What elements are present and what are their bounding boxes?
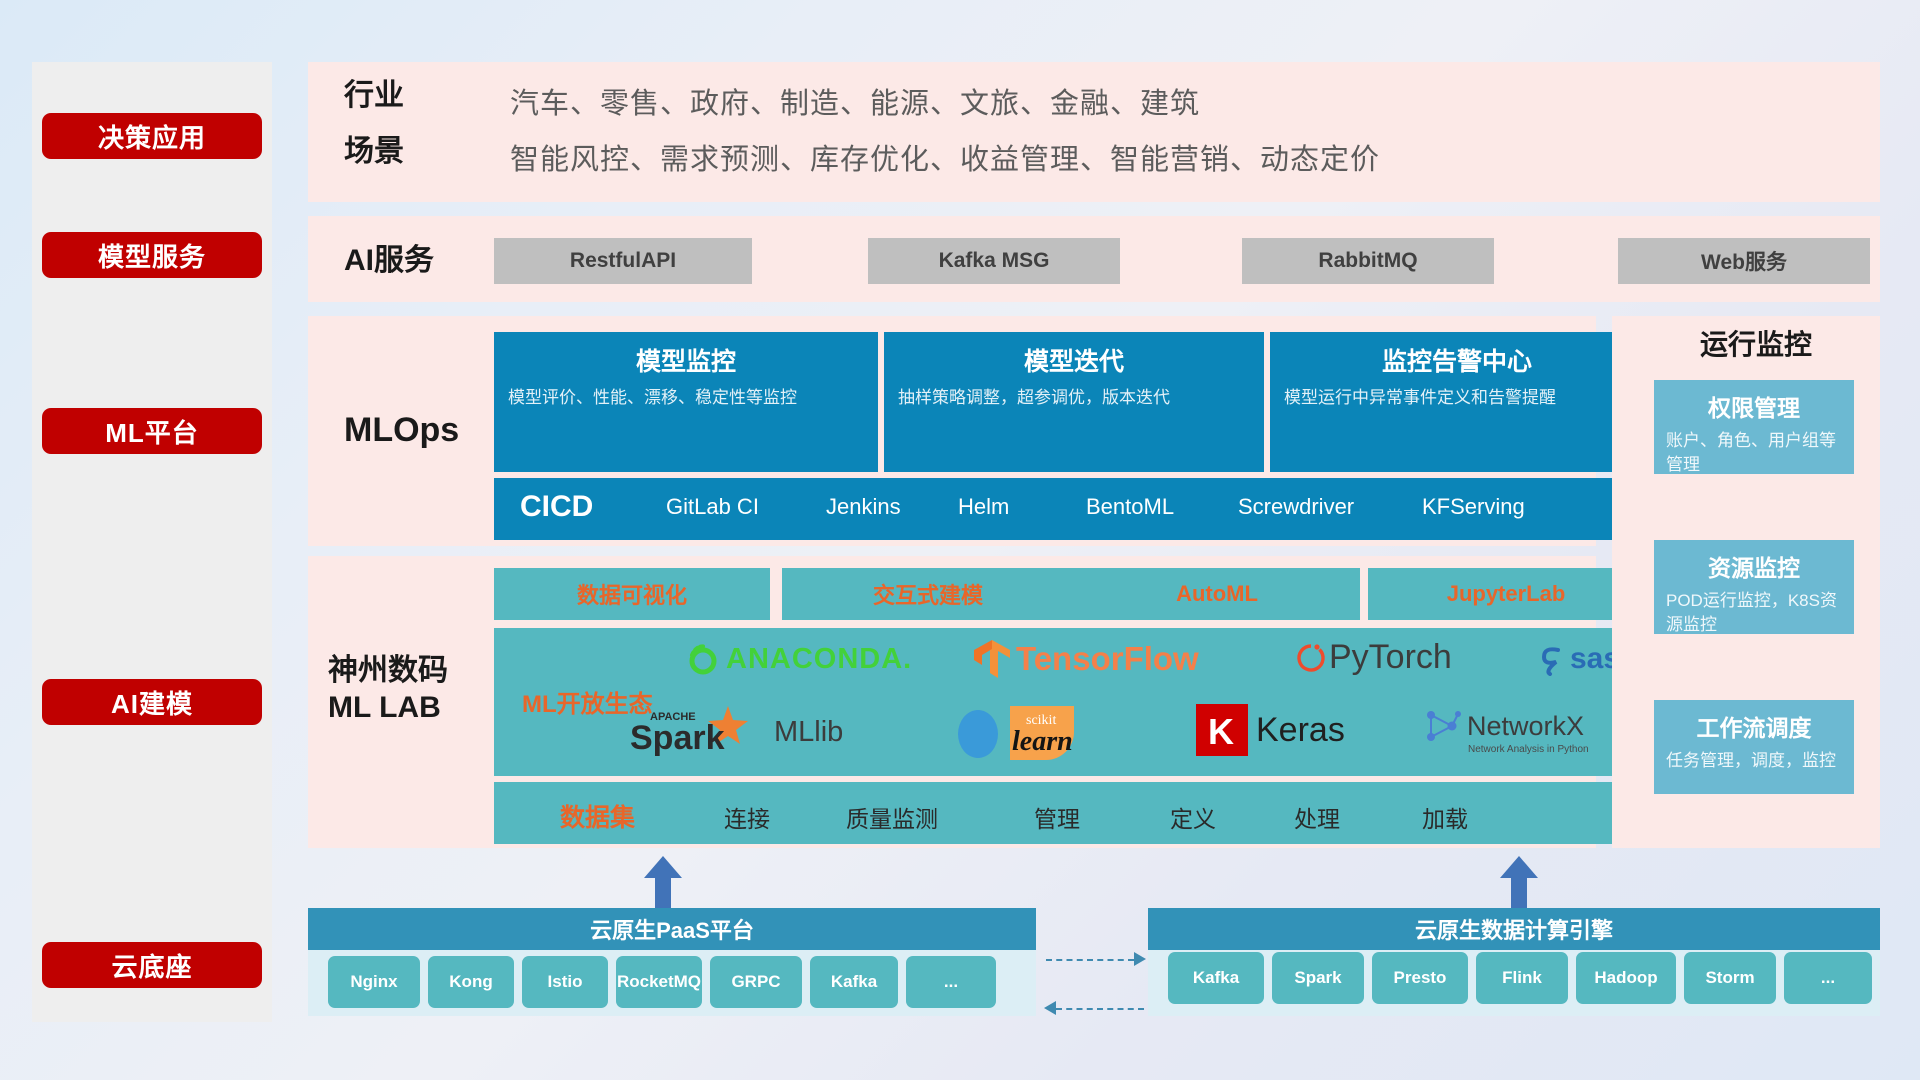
cloud-chip-grpc[interactable]: GRPC: [710, 956, 802, 1008]
industry-list: 汽车、零售、政府、制造、能源、文旅、金融、建筑: [510, 80, 1200, 122]
cicd-label: CICD: [520, 490, 593, 524]
cloud-group-engine-title: 云原生数据计算引擎: [1148, 908, 1880, 950]
networkx-icon: [1422, 706, 1464, 746]
dataset-item-load[interactable]: 加载: [1422, 800, 1468, 834]
cloud-chip-flink[interactable]: Flink: [1476, 952, 1568, 1004]
scikit-learn-icon: scikit learn: [950, 700, 1100, 762]
scenario-list: 智能风控、需求预测、库存优化、收益管理、智能营销、动态定价: [510, 136, 1380, 178]
dataset-item-define[interactable]: 定义: [1170, 800, 1216, 834]
networkx-tagline: Network Analysis in Python: [1468, 744, 1589, 755]
tool-label: 数据可视化: [577, 578, 687, 610]
cicd-bar: CICD GitLab CI Jenkins Helm BentoML Scre…: [494, 478, 1644, 540]
mlops-card-model-iteration[interactable]: 模型迭代 抽样策略调整，超参调优，版本迭代: [884, 332, 1264, 472]
cloud-chip-hadoop[interactable]: Hadoop: [1576, 952, 1676, 1004]
ml-lab-label-line2: ML LAB: [328, 691, 441, 724]
mlops-card-title: 模型迭代: [884, 342, 1264, 378]
left-rail: [32, 62, 272, 1022]
mlops-card-desc: 模型运行中异常事件定义和告警提醒: [1270, 386, 1644, 411]
tensorflow-wordmark: TensorFlow: [1016, 640, 1199, 678]
cloud-chip-nginx[interactable]: Nginx: [328, 956, 420, 1008]
mlops-card-title: 模型监控: [494, 342, 878, 378]
monitor-card-desc: POD运行监控，K8S资源监控: [1654, 589, 1854, 647]
dash-arrow-right: [1046, 959, 1134, 961]
dataset-bar: 数据集 连接 质量监测 管理 定义 处理 加载: [494, 782, 1644, 844]
architecture-diagram: 决策应用 模型服务 ML平台 AI建模 云底座 行业 汽车、零售、政府、制造、能…: [0, 0, 1920, 1080]
mlops-card-title: 监控告警中心: [1270, 342, 1644, 378]
cicd-item-kfserving[interactable]: KFServing: [1422, 494, 1552, 519]
tool-automl[interactable]: AutoML: [1074, 568, 1360, 620]
mlops-card-desc: 抽样策略调整，超参调优，版本迭代: [884, 386, 1264, 411]
dataset-item-quality[interactable]: 质量监测: [846, 800, 938, 834]
ml-lab-label: 神州数码 ML LAB: [328, 653, 448, 726]
ai-service-item-web-service[interactable]: Web服务: [1618, 238, 1870, 284]
dataset-item-manage[interactable]: 管理: [1034, 800, 1080, 834]
ai-service-item-label: RabbitMQ: [1318, 249, 1417, 273]
ai-service-item-label: Web服务: [1701, 246, 1787, 276]
svg-text:Spark: Spark: [630, 719, 725, 757]
anaconda-icon: [686, 642, 720, 676]
monitor-card-permission[interactable]: 权限管理 账户、角色、用户组等管理: [1654, 380, 1854, 474]
pytorch-icon: [1296, 640, 1326, 676]
cloud-chip-kafka2[interactable]: Kafka: [1168, 952, 1264, 1004]
tensorflow-icon: [972, 638, 1012, 680]
arrow-up-paas-head: [644, 856, 682, 878]
arrow-up-engine-head: [1500, 856, 1538, 878]
mlops-card-desc: 模型评价、性能、漂移、稳定性等监控: [494, 386, 878, 411]
spark-icon: APACHE Spark: [620, 704, 788, 760]
rail-label: 决策应用: [98, 118, 206, 155]
ai-service-item-label: RestfulAPI: [570, 249, 676, 273]
monitor-card-title: 工作流调度: [1654, 709, 1854, 743]
svg-text:K: K: [1208, 711, 1234, 752]
arrow-up-engine-stem: [1511, 878, 1527, 908]
keras-logo: K Keras: [1196, 704, 1345, 756]
ai-service-item-restfulapi[interactable]: RestfulAPI: [494, 238, 752, 284]
dash-arrow-right-head: [1134, 952, 1146, 966]
rail-item-decision-app[interactable]: 决策应用: [42, 113, 262, 159]
monitor-card-title: 权限管理: [1654, 389, 1854, 423]
tool-label: JupyterLab: [1447, 581, 1566, 607]
monitor-card-desc: 账户、角色、用户组等管理: [1654, 429, 1854, 487]
rail-item-ai-modeling[interactable]: AI建模: [42, 679, 262, 725]
runtime-monitor-title: 运行监控: [1700, 328, 1812, 362]
monitor-card-title: 资源监控: [1654, 549, 1854, 583]
cloud-chip-more2[interactable]: ...: [1784, 952, 1872, 1004]
cloud-chip-more[interactable]: ...: [906, 956, 996, 1008]
rail-label: 云底座: [111, 947, 192, 984]
industry-label: 行业: [344, 78, 404, 115]
pytorch-wordmark: PyTorch: [1329, 638, 1452, 677]
dataset-item-connect[interactable]: 连接: [724, 800, 770, 834]
spark-mllib-logo: APACHE Spark MLlib: [620, 704, 843, 760]
mllib-wordmark: MLlib: [774, 716, 843, 749]
cloud-chip-spark[interactable]: Spark: [1272, 952, 1364, 1004]
rail-label: 模型服务: [98, 237, 206, 274]
svg-text:learn: learn: [1012, 726, 1073, 757]
tool-label: 交互式建模: [873, 578, 983, 610]
rail-label: AI建模: [111, 684, 193, 721]
rail-item-cloud-base[interactable]: 云底座: [42, 942, 262, 988]
mlops-card-alert-center[interactable]: 监控告警中心 模型运行中异常事件定义和告警提醒: [1270, 332, 1644, 472]
sas-icon: [1534, 642, 1568, 676]
monitor-card-workflow[interactable]: 工作流调度 任务管理，调度，监控: [1654, 700, 1854, 794]
ml-open-ecosystem-panel: ML开放生态 ANACONDA. TensorFlow PyTorch: [494, 628, 1644, 776]
dash-arrow-left-head: [1044, 1001, 1056, 1015]
rail-item-ml-platform[interactable]: ML平台: [42, 408, 262, 454]
cloud-chip-kong[interactable]: Kong: [428, 956, 514, 1008]
anaconda-logo: ANACONDA.: [686, 642, 912, 676]
mlops-label: MLOps: [344, 410, 459, 451]
cicd-item-bentoml[interactable]: BentoML: [1086, 494, 1196, 519]
cloud-chip-presto[interactable]: Presto: [1372, 952, 1468, 1004]
anaconda-wordmark: ANACONDA.: [726, 643, 912, 676]
ai-service-item-kafka-msg[interactable]: Kafka MSG: [868, 238, 1120, 284]
tool-jupyterlab[interactable]: JupyterLab: [1368, 568, 1644, 620]
scikit-learn-logo: scikit learn: [950, 700, 1100, 762]
ai-service-item-rabbitmq[interactable]: RabbitMQ: [1242, 238, 1494, 284]
arrow-up-paas-stem: [655, 878, 671, 908]
monitor-card-desc: 任务管理，调度，监控: [1654, 749, 1854, 783]
cloud-chip-rocketmq[interactable]: RocketMQ: [616, 956, 702, 1008]
rail-label: ML平台: [105, 413, 199, 450]
networkx-logo: NetworkX Network Analysis in Python: [1422, 706, 1589, 755]
tool-data-visualization[interactable]: 数据可视化: [494, 568, 770, 620]
dataset-label: 数据集: [560, 798, 635, 834]
tensorflow-logo: TensorFlow: [972, 638, 1199, 680]
cloud-chip-kafka[interactable]: Kafka: [810, 956, 898, 1008]
keras-icon: K: [1196, 704, 1248, 756]
cloud-chip-istio[interactable]: Istio: [522, 956, 608, 1008]
cicd-item-helm[interactable]: Helm: [958, 494, 1056, 519]
pytorch-logo: PyTorch: [1296, 638, 1452, 677]
rail-item-model-service[interactable]: 模型服务: [42, 232, 262, 278]
ai-service-label: AI服务: [344, 243, 434, 280]
cicd-item-jenkins[interactable]: Jenkins: [826, 494, 928, 519]
tool-label: AutoML: [1176, 581, 1258, 607]
tool-interactive-modeling[interactable]: 交互式建模: [782, 568, 1074, 620]
mlops-card-model-monitoring[interactable]: 模型监控 模型评价、性能、漂移、稳定性等监控: [494, 332, 878, 472]
dataset-item-process[interactable]: 处理: [1294, 800, 1340, 834]
ml-lab-label-line1: 神州数码: [328, 654, 448, 687]
scenario-label: 场景: [344, 134, 404, 171]
cloud-group-paas-title: 云原生PaaS平台: [308, 908, 1036, 950]
ai-service-item-label: Kafka MSG: [939, 249, 1050, 273]
dash-arrow-left: [1056, 1008, 1144, 1010]
cicd-item-screwdriver[interactable]: Screwdriver: [1238, 494, 1368, 519]
sas-logo: sas: [1534, 642, 1620, 676]
monitor-card-resource[interactable]: 资源监控 POD运行监控，K8S资源监控: [1654, 540, 1854, 634]
cloud-chip-storm[interactable]: Storm: [1684, 952, 1776, 1004]
cicd-item-gitlab-ci[interactable]: GitLab CI: [666, 494, 806, 519]
networkx-wordmark: NetworkX: [1467, 711, 1584, 742]
keras-wordmark: Keras: [1256, 711, 1345, 750]
